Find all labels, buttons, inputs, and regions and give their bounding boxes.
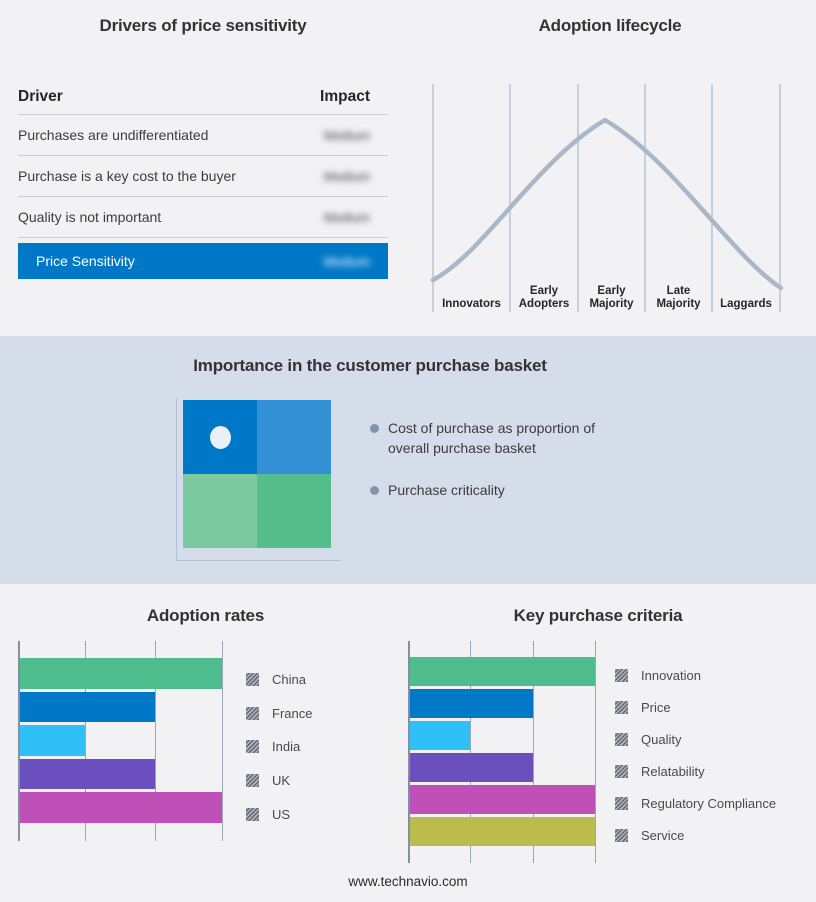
legend-label: Innovation: [641, 668, 701, 683]
legend-item: India: [246, 730, 312, 764]
lifecycle-segment-innovators: Innovators: [433, 298, 510, 311]
legend-label: Cost of purchase as proportion of overal…: [388, 418, 638, 458]
lifecycle-segment-early-adopters: Early Adopters: [510, 285, 578, 311]
column-header-driver: Driver: [18, 88, 63, 106]
bar-service: [410, 817, 595, 846]
legend-swatch-icon: [615, 669, 628, 682]
drivers-table-header: Driver Impact: [18, 88, 388, 115]
legend-swatch-icon: [246, 740, 259, 753]
legend-item: Regulatory Compliance: [615, 787, 776, 819]
legend-label: Regulatory Compliance: [641, 796, 776, 811]
impact-value: Medium: [324, 169, 370, 184]
infographic-page: Drivers of price sensitivity Driver Impa…: [0, 0, 816, 902]
lifecycle-bell-curve: [433, 120, 781, 288]
purchase-basket-quadrant: [183, 400, 331, 548]
legend-bullet-icon: [370, 486, 379, 495]
bar-france: [20, 692, 155, 723]
table-row: Quality is not important Medium: [18, 197, 388, 238]
legend-swatch-icon: [615, 797, 628, 810]
drivers-panel-title: Drivers of price sensitivity: [18, 16, 388, 36]
key-purchase-criteria-chart: InnovationPriceQualityRelatabilityRegula…: [408, 641, 798, 866]
legend-item: Cost of purchase as proportion of overal…: [370, 418, 660, 458]
legend-item: Quality: [615, 723, 776, 755]
legend-label: Quality: [641, 732, 681, 747]
driver-label: Purchases are undifferentiated: [18, 127, 208, 143]
bar-china: [20, 658, 222, 689]
drivers-table: Driver Impact Purchases are undifferenti…: [18, 88, 388, 279]
lifecycle-segment-early-majority: Early Majority: [578, 285, 645, 311]
legend-label: India: [272, 739, 300, 754]
bar-innovation: [410, 657, 595, 686]
bar-quality: [410, 721, 470, 750]
quadrant-marker-dot: [210, 426, 231, 449]
legend-item: China: [246, 663, 312, 697]
quadrant-cell-bottom-left: [183, 474, 257, 548]
column-header-impact: Impact: [320, 88, 370, 106]
price-sensitivity-label: Price Sensitivity: [36, 253, 135, 269]
lifecycle-segment-laggards: Laggards: [712, 298, 780, 311]
legend-swatch-icon: [246, 774, 259, 787]
bar-relatability: [410, 753, 533, 782]
legend-item: Purchase criticality: [370, 480, 660, 500]
legend-label: China: [272, 672, 306, 687]
impact-value: Medium: [324, 210, 370, 225]
chart-gridline-2: [595, 641, 596, 863]
table-row: Purchases are undifferentiated Medium: [18, 115, 388, 156]
legend-swatch-icon: [246, 808, 259, 821]
legend-item: Service: [615, 819, 776, 851]
legend-item: France: [246, 697, 312, 731]
legend-item: Relatability: [615, 755, 776, 787]
impact-value: Medium: [324, 128, 370, 143]
lifecycle-panel-title: Adoption lifecycle: [425, 16, 795, 36]
lifecycle-segment-labels: Innovators Early Adopters Early Majority…: [425, 268, 795, 314]
legend-swatch-icon: [246, 707, 259, 720]
legend-swatch-icon: [615, 701, 628, 714]
price-sensitivity-row: Price Sensitivity Medium: [18, 243, 388, 279]
legend-bullet-icon: [370, 424, 379, 433]
bar-us: [20, 792, 222, 823]
footer-url: www.technavio.com: [0, 874, 816, 889]
legend-label: US: [272, 807, 290, 822]
legend-item: UK: [246, 764, 312, 798]
legend-item: US: [246, 797, 312, 831]
key-purchase-criteria-plot: [408, 641, 595, 866]
chart-gridline-2: [222, 641, 223, 841]
quadrant-cell-top-right: [257, 400, 331, 474]
legend-swatch-icon: [615, 765, 628, 778]
legend-swatch-icon: [615, 829, 628, 842]
legend-item: Innovation: [615, 659, 776, 691]
driver-label: Purchase is a key cost to the buyer: [18, 168, 236, 184]
purchase-basket-legend: Cost of purchase as proportion of overal…: [370, 418, 660, 522]
legend-swatch-icon: [246, 673, 259, 686]
adoption-rates-chart: ChinaFranceIndiaUKUS: [18, 641, 393, 856]
lifecycle-segment-late-majority: Late Majority: [645, 285, 712, 311]
legend-item: Price: [615, 691, 776, 723]
table-row: Purchase is a key cost to the buyer Medi…: [18, 156, 388, 197]
legend-label: Purchase criticality: [388, 480, 505, 500]
basket-panel-title: Importance in the customer purchase bask…: [0, 356, 740, 376]
quadrant-axis-horizontal: [176, 560, 341, 561]
legend-label: Relatability: [641, 764, 705, 779]
adoption-lifecycle-chart: Innovators Early Adopters Early Majority…: [425, 82, 795, 314]
bar-uk: [20, 759, 155, 790]
quadrant-axis-vertical: [176, 398, 177, 560]
bar-regulatory-compliance: [410, 785, 595, 814]
legend-label: Price: [641, 700, 671, 715]
price-sensitivity-impact: Medium: [324, 254, 370, 269]
quadrant-cell-top-left: [183, 400, 257, 474]
legend-label: UK: [272, 773, 290, 788]
legend-label: Service: [641, 828, 684, 843]
adoption-rates-legend: ChinaFranceIndiaUKUS: [246, 663, 312, 831]
bar-price: [410, 689, 533, 718]
legend-swatch-icon: [615, 733, 628, 746]
key-purchase-criteria-legend: InnovationPriceQualityRelatabilityRegula…: [615, 659, 776, 851]
key-purchase-criteria-title: Key purchase criteria: [408, 606, 788, 626]
driver-label: Quality is not important: [18, 209, 161, 225]
adoption-rates-plot: [18, 641, 222, 856]
quadrant-cell-bottom-right: [257, 474, 331, 548]
legend-label: France: [272, 706, 312, 721]
bar-india: [20, 725, 85, 756]
adoption-rates-title: Adoption rates: [18, 606, 393, 626]
